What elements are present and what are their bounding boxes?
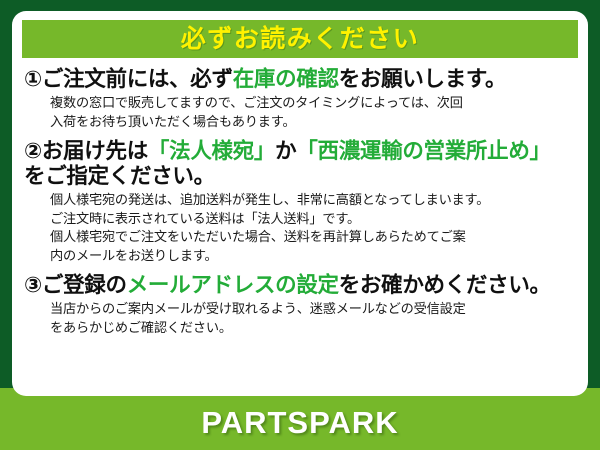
item-highlight-3: メールアドレスの設定: [127, 273, 339, 297]
item-marker-2: ②: [24, 139, 42, 163]
item-marker-3: ③: [24, 273, 42, 297]
notice-banner: 必ずお読みください ①ご注文前には、必ず在庫の確認をお願いします。 複数の窓口で…: [0, 0, 600, 450]
item-head-pre-2: お届け先は: [42, 139, 148, 163]
footer-bar: PARTSPARK: [0, 396, 600, 450]
item-head-pre-1: ご注文前には、必ず: [42, 67, 233, 91]
list-item: ③ご登録のメールアドレスの設定をお確かめください。 当店からのご案内メールが受け…: [24, 273, 576, 338]
brand-logo: PARTSPARK: [201, 405, 398, 441]
item-highlight-2b: 「西濃運輸の営業所止め」: [296, 139, 550, 163]
item-head-mid-2: か: [275, 139, 296, 163]
item-highlight-1: 在庫の確認: [233, 67, 339, 91]
item-head-post-3: をお確かめください。: [339, 273, 551, 297]
page-title: 必ずお読みください: [181, 27, 420, 52]
item-subtext-1: 複数の窓口で販売してますので、ご注文のタイミングによっては、次回 入荷をお待ち頂…: [24, 94, 576, 131]
item-subtext-2: 個人様宅宛の発送は、追加送料が発生し、非常に高額となってしまいます。 ご注文時に…: [24, 191, 576, 266]
item-marker-1: ①: [24, 67, 42, 91]
item-highlight-2a: 「法人様宛」: [148, 139, 275, 163]
item-subtext-3: 当店からのご案内メールが受け取れるよう、迷惑メールなどの受信設定 をあらかじめご…: [24, 300, 576, 337]
notice-list: ①ご注文前には、必ず在庫の確認をお願いします。 複数の窓口で販売してますので、ご…: [12, 58, 588, 337]
item-headline-3: ③ご登録のメールアドレスの設定をお確かめください。: [24, 273, 576, 298]
header-bar: 必ずお読みください: [22, 20, 578, 58]
content-panel: 必ずお読みください ①ご注文前には、必ず在庫の確認をお願いします。 複数の窓口で…: [12, 11, 588, 396]
item-head-post-1: をお願いします。: [339, 67, 506, 91]
list-item: ①ご注文前には、必ず在庫の確認をお願いします。 複数の窓口で販売してますので、ご…: [24, 67, 576, 132]
item-head-pre-3: ご登録の: [42, 273, 127, 297]
item-headline-1: ①ご注文前には、必ず在庫の確認をお願いします。: [24, 67, 576, 92]
item-head-post-2: をご指定ください。: [24, 164, 215, 188]
item-headline-2: ②お届け先は「法人様宛」か「西濃運輸の営業所止め」 をご指定ください。: [24, 139, 576, 189]
list-item: ②お届け先は「法人様宛」か「西濃運輸の営業所止め」 をご指定ください。 個人様宅…: [24, 139, 576, 266]
